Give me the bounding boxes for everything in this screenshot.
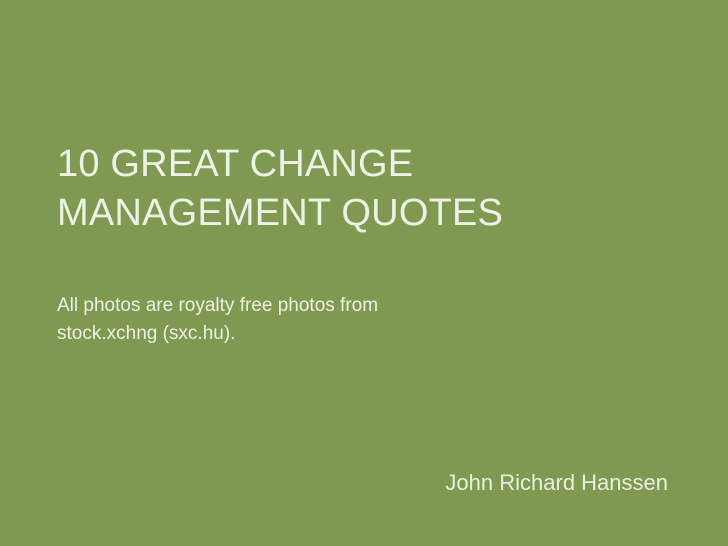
slide-subtitle: All photos are royalty free photos from … <box>57 292 537 348</box>
page-title: 10 GREAT CHANGE MANAGEMENT QUOTES <box>57 140 657 238</box>
title-slide: 10 GREAT CHANGE MANAGEMENT QUOTES All ph… <box>0 0 728 546</box>
author-byline: John Richard Hanssen <box>0 468 668 498</box>
